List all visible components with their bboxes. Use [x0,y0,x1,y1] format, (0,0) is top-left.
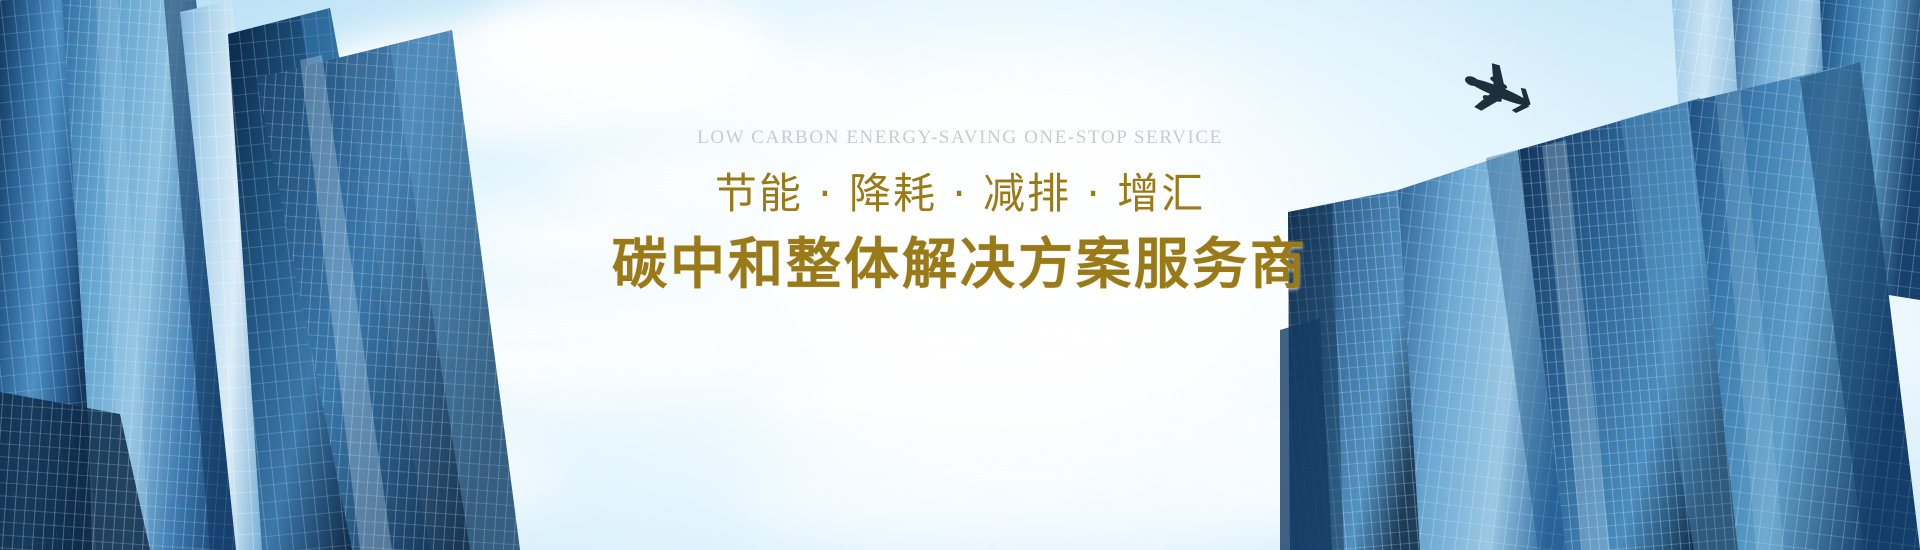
cloud-shape [560,150,760,210]
right-skyscraper-cluster [1280,0,1920,550]
hero-banner: LOW CARBON ENERGY-SAVING ONE-STOP SERVIC… [0,0,1920,550]
cloud-shape [880,60,1240,140]
left-skyscraper-cluster [0,0,520,550]
cloud-shape [620,40,880,130]
right-buildings-svg [1280,0,1920,550]
airplane-icon [1444,52,1554,130]
cloud-shape [740,440,1340,550]
left-buildings-svg [0,0,520,550]
